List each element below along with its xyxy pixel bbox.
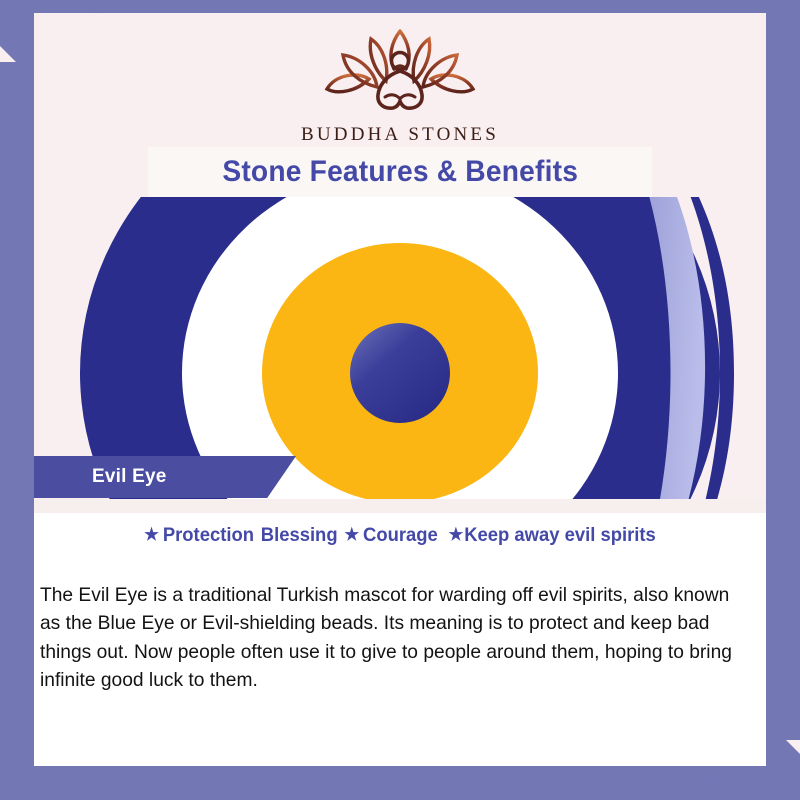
benefit-label-keep-away-evil-spirits: Keep away evil spirits <box>464 525 656 546</box>
stone-description: The Evil Eye is a traditional Turkish ma… <box>40 581 753 695</box>
benefit-item-blessing: Blessing <box>261 525 338 546</box>
benefit-item-protection: ★Protection <box>144 525 254 546</box>
stone-name-badge: Evil Eye <box>34 456 296 498</box>
hero-artwork <box>34 197 766 499</box>
benefit-label-blessing: Blessing <box>261 525 338 546</box>
benefit-label-protection: Protection <box>163 525 254 546</box>
content-card: ★ProtectionBlessing★Courage★Keep away ev… <box>34 499 766 766</box>
frame-band-right <box>766 0 800 740</box>
lotus-meditation-figure-icon <box>34 25 766 122</box>
frame-band-left <box>0 62 34 800</box>
star-icon: ★ <box>344 525 359 544</box>
brand-logo: BUDDHA STONES <box>34 25 766 146</box>
benefit-label-courage: Courage <box>363 525 438 546</box>
benefits-row: ★ProtectionBlessing★Courage★Keep away ev… <box>45 525 755 547</box>
title-banner: Stone Features & Benefits <box>148 147 652 197</box>
frame-band-top <box>48 0 800 13</box>
brand-name: BUDDHA STONES <box>34 124 766 146</box>
evil-eye-bead-graphic <box>34 197 766 499</box>
star-icon: ★ <box>144 525 159 544</box>
poster-root: BUDDHA STONES Stone Features & Benefits <box>0 0 800 800</box>
page-surface: BUDDHA STONES Stone Features & Benefits <box>34 13 766 766</box>
frame-band-bottom <box>0 766 752 800</box>
page-title: Stone Features & Benefits <box>222 155 578 189</box>
stone-name-label: Evil Eye <box>92 466 166 488</box>
star-icon: ★ <box>448 525 463 544</box>
card-top-shade <box>34 499 766 513</box>
benefit-item-courage: ★Courage <box>344 525 437 546</box>
benefit-item-keep-away-evil-spirits: ★Keep away evil spirits <box>448 525 655 546</box>
